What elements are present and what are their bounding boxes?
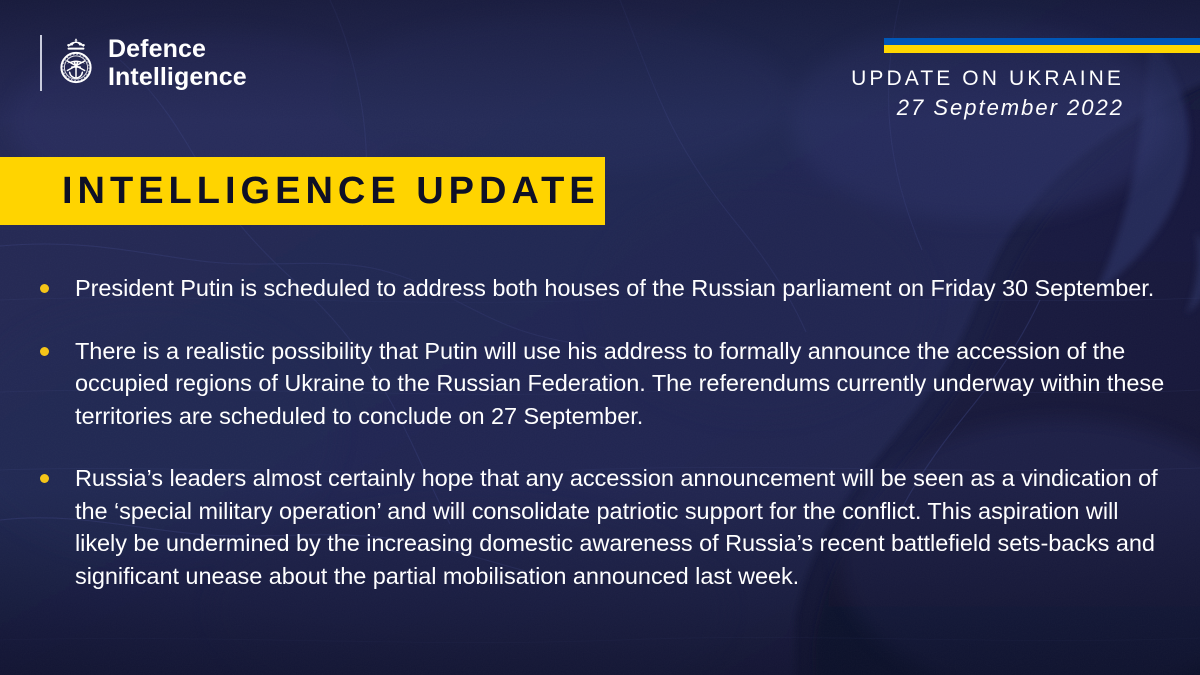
intelligence-update-banner: INTELLIGENCE UPDATE — [0, 157, 605, 225]
brand-divider — [40, 35, 42, 91]
ukraine-flag-bar-icon — [884, 38, 1200, 53]
brand-line-defence: Defence — [108, 35, 247, 63]
update-title: UPDATE ON UKRAINE — [851, 66, 1124, 92]
list-item: President Putin is scheduled to address … — [0, 272, 1200, 305]
brand-title: Defence Intelligence — [108, 35, 247, 91]
intelligence-update-poster: Defence Intelligence UPDATE ON UKRAINE 2… — [0, 0, 1200, 675]
list-item: There is a realistic possibility that Pu… — [0, 335, 1200, 433]
update-date: 27 September 2022 — [851, 93, 1124, 123]
mod-defence-crest-icon — [55, 36, 97, 90]
bullet-text: Russia’s leaders almost certainly hope t… — [75, 462, 1170, 592]
bullet-dot-icon — [40, 474, 49, 483]
brand-line-intelligence: Intelligence — [108, 63, 247, 91]
update-heading-block: UPDATE ON UKRAINE 27 September 2022 — [851, 66, 1124, 123]
header: Defence Intelligence UPDATE ON UKRAINE 2… — [0, 0, 1200, 150]
list-item: Russia’s leaders almost certainly hope t… — [0, 462, 1200, 592]
bullet-dot-icon — [40, 284, 49, 293]
bullet-dot-icon — [40, 347, 49, 356]
bullet-list: President Putin is scheduled to address … — [0, 272, 1200, 622]
flag-yellow-band — [884, 45, 1200, 53]
bullet-text: President Putin is scheduled to address … — [75, 272, 1154, 305]
bullet-text: There is a realistic possibility that Pu… — [75, 335, 1170, 433]
brand-lockup: Defence Intelligence — [40, 32, 247, 94]
flag-blue-band — [884, 38, 1200, 45]
banner-title: INTELLIGENCE UPDATE — [0, 170, 600, 213]
